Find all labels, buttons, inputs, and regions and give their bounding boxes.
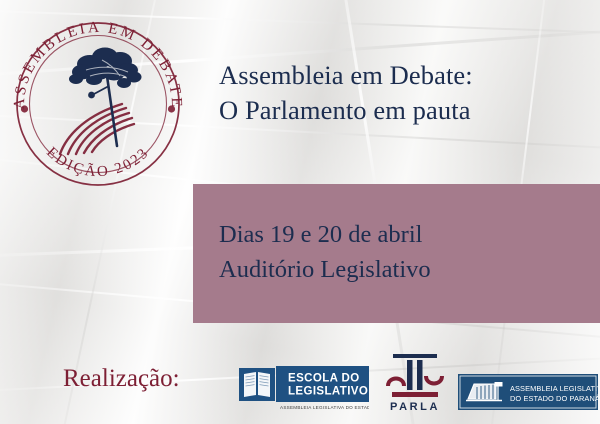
escola-subtitle: ASSEMBLEIA LEGISLATIVA DO ESTADO DO PARA…: [280, 404, 369, 410]
logo-escola-do-legislativo: ESCOLA DO LEGISLATIVO ASSEMBLEIA LEGISLA…: [236, 364, 369, 412]
open-book-icon: [239, 368, 275, 401]
escola-line-2: LEGISLATIVO: [288, 386, 368, 398]
parla-wordmark: PARLA: [390, 401, 440, 412]
tree-canopy: [69, 48, 142, 89]
event-venue-line: Auditório Legislativo: [219, 253, 431, 288]
alep-line-1: ASSEMBLEIA LEGISLATIVA: [510, 384, 598, 393]
event-details-banner: Dias 19 e 20 de abril Auditório Legislat…: [193, 184, 600, 323]
poster-canvas: ASSEMBLEIA EM DEBATE EDIÇÃO 2023: [0, 0, 600, 424]
event-details-text: Dias 19 e 20 de abril Auditório Legislat…: [219, 218, 431, 288]
page-title: Assembleia em Debate: O Parlamento em pa…: [219, 58, 473, 128]
alep-line-2: DO ESTADO DO PARANÁ: [510, 394, 598, 403]
headline-line-1: Assembleia em Debate:: [219, 58, 473, 93]
logo-parla: PARLA: [379, 352, 451, 412]
furrow-lines: [60, 104, 134, 154]
headline-line-2: O Parlamento em pauta: [219, 93, 473, 128]
escola-line-1: ESCOLA DO: [288, 373, 360, 385]
event-seal-logo: ASSEMBLEIA EM DEBATE EDIÇÃO 2023: [6, 14, 189, 186]
realizacao-label: Realização:: [63, 366, 180, 391]
event-date-line: Dias 19 e 20 de abril: [219, 218, 431, 253]
column-icon: [388, 354, 442, 397]
logo-assembleia-legislativa-parana: ASSEMBLEIA LEGISLATIVA DO ESTADO DO PARA…: [458, 374, 598, 410]
